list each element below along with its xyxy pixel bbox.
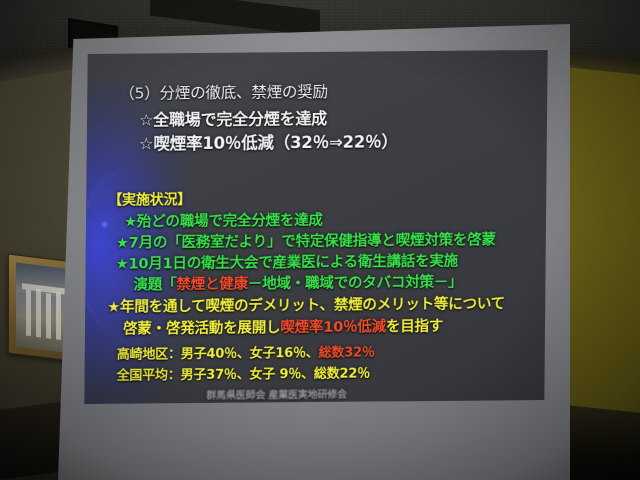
stats-row: 高崎地区：男子40％、女子16％、総数32％ — [117, 341, 375, 362]
goal-prefix: 啓蒙・啓発活動を展開し — [123, 320, 280, 337]
goal-line-1: ★年間を通して喫煙のデメリット、禁煙のメリット等について — [107, 292, 505, 316]
stats-female: 女子 9％、 — [249, 367, 314, 383]
slide-footer: 群馬県医師会 産業医実地研修会 — [206, 386, 347, 402]
stats-row: 全国平均：男子37％、女子 9％、総数22％ — [117, 363, 371, 384]
slide-content: （5）分煙の徹底、禁煙の奨励 ☆全職場で完全分煙を達成 ☆喫煙率10％低減（32… — [84, 50, 547, 404]
goal-line-2: 啓蒙・啓発活動を展開し喫煙率10％低減を目指す — [123, 315, 443, 339]
status-bullet-3: ★10月1日の衛生大会で産業医による衛生講話を実施 — [116, 250, 459, 274]
lecture-title-line: 演題「禁煙と健康－地域・職域でのタバコ対策－」 — [133, 271, 462, 295]
lecture-prefix: 演題「 — [133, 277, 176, 293]
goal-suffix: を目指す — [386, 319, 443, 336]
stats-total: 総数22％ — [314, 367, 370, 382]
goal-highlight: 喫煙率10％低減 — [280, 319, 386, 336]
picture-column — [56, 292, 61, 340]
stats-female: 女子16％、 — [250, 346, 319, 362]
stats-male: 男子37％、 — [181, 368, 250, 384]
projected-slide: （5）分煙の徹底、禁煙の奨励 ☆全職場で完全分煙を達成 ☆喫煙率10％低減（32… — [84, 50, 547, 404]
photo-of-projected-slide: （5）分煙の徹底、禁煙の奨励 ☆全職場で完全分煙を達成 ☆喫煙率10％低減（32… — [0, 0, 640, 480]
stats-region: 全国平均： — [117, 368, 181, 384]
picture-column — [46, 293, 51, 339]
stats-male: 男子40％、 — [181, 347, 250, 363]
slide-title-bullet-2: ☆喫煙率10％低減（32％⇒22％） — [139, 128, 398, 154]
lecture-highlight: 禁煙と健康 — [176, 277, 248, 294]
stats-region: 高崎地区： — [117, 347, 181, 363]
lecture-suffix: －地域・職域でのタバコ対策－」 — [248, 275, 463, 293]
status-bullet-1: ★殆どの職場で完全分煙を達成 — [124, 209, 323, 232]
picture-column — [36, 289, 41, 338]
slide-heading: （5）分煙の徹底、禁煙の奨励 — [119, 80, 328, 104]
slide-title-bullet-1: ☆全職場で完全分煙を達成 — [139, 105, 327, 131]
stats-total: 総数32％ — [319, 345, 375, 360]
picture-column — [26, 290, 31, 337]
status-heading: 【実施状況】 — [108, 189, 191, 210]
